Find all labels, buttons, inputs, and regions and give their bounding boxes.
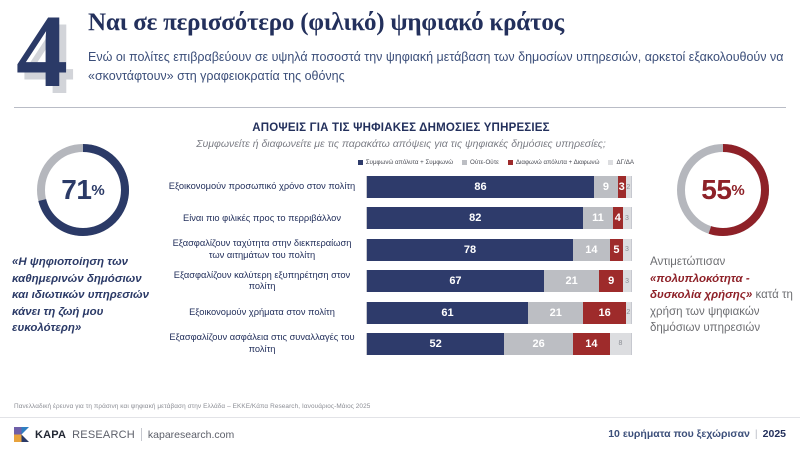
right-donut-chart: 55% (673, 140, 773, 240)
left-donut-chart: 71% (33, 140, 133, 240)
chart-row-label: Εξοικονομούν χρήματα στον πολίτη (166, 307, 366, 319)
section-number-value: 4 (16, 2, 66, 102)
right-donut-label: 55% (673, 140, 773, 240)
header-divider (14, 107, 786, 108)
chart-segment: 82 (367, 207, 583, 229)
chart-segment: 78 (367, 239, 573, 261)
legend-item: ΔΓ/ΔΑ (608, 159, 634, 166)
legend-swatch-icon (608, 160, 613, 165)
brand-website[interactable]: kaparesearch.com (148, 429, 234, 441)
chart-segment: 26 (504, 333, 573, 355)
chart-row: Εξασφαλίζουν ταχύτητα στην διεκπεραίωση … (166, 236, 636, 264)
chart-segment: 11 (583, 207, 612, 229)
right-caption-highlight: «πολυπλοκότητα - δυσκολία χρήσης» (650, 273, 752, 302)
right-caption-before: Αντιμετώπισαν (650, 256, 725, 268)
brand-research: RESEARCH (72, 429, 135, 441)
chart-title: ΑΠΟΨΕΙΣ ΓΙΑ ΤΙΣ ΨΗΦΙΑΚΕΣ ΔΗΜΟΣΙΕΣ ΥΠΗΡΕΣ… (166, 122, 636, 134)
footer-year: 2025 (763, 428, 786, 440)
chart-segment: 4 (613, 207, 624, 229)
chart-segment: 3 (623, 207, 631, 229)
left-donut-label: 71% (33, 140, 133, 240)
page-subtitle: Ενώ οι πολίτες επιβραβεύουν σε υψηλά ποσ… (88, 48, 788, 86)
header: 4 4 Ναι σε περισσότερο (φιλικό) ψηφιακό … (0, 0, 800, 108)
legend-item: Συμφωνώ απόλυτα + Συμφωνώ (358, 159, 453, 166)
chart-row-label: Εξασφαλίζουν καλύτερη εξυπηρέτηση στον π… (166, 270, 366, 293)
right-donut-percent: % (731, 182, 744, 199)
brand-block: KAPA RESEARCH kaparesearch.com (14, 427, 234, 442)
kapa-logo-icon (14, 427, 29, 442)
chart-row-label: Είναι πιο φιλικές προς το περριβάλλον (166, 213, 366, 225)
legend-item: Διαφωνώ απόλυτα + Διαφωνώ (508, 159, 600, 166)
chart-row: Εξοικονομούν προσωπικό χρόνο στον πολίτη… (166, 173, 636, 201)
chart-row: Είναι πιο φιλικές προς το περριβάλλον821… (166, 204, 636, 232)
right-donut-value: 55 (701, 174, 731, 206)
chart-segment: 67 (367, 270, 544, 292)
legend-swatch-icon (358, 160, 363, 165)
chart-bar: 821143 (366, 207, 632, 229)
footer-divider (0, 417, 800, 418)
chart-segment: 61 (367, 302, 528, 324)
legend-label: Ούτε-Ούτε (470, 159, 499, 166)
chart-rows: Εξοικονομούν προσωπικό χρόνο στον πολίτη… (166, 173, 636, 358)
chart-row-label: Εξασφαλίζουν ταχύτητα στην διεκπεραίωση … (166, 238, 366, 261)
footer-tagline-block: 10 ευρήματα που ξεχώρισαν | 2025 (608, 428, 786, 440)
chart-legend: Συμφωνώ απόλυτα + ΣυμφωνώΟύτε-ΟύτεΔιαφων… (166, 159, 636, 166)
chart-subtitle: Συμφωνείτε ή διαφωνείτε με τις παρακάτω … (166, 138, 636, 150)
legend-swatch-icon (508, 160, 513, 165)
infographic-slide: 4 4 Ναι σε περισσότερο (φιλικό) ψηφιακό … (0, 0, 800, 450)
chart-segment: 3 (618, 176, 626, 198)
left-donut-value: 71 (61, 174, 91, 206)
chart-segment: 21 (544, 270, 599, 292)
legend-label: ΔΓ/ΔΑ (616, 159, 634, 166)
page-title: Ναι σε περισσότερο (φιλικό) ψηφιακό κράτ… (88, 8, 788, 38)
chart-segment: 8 (610, 333, 631, 355)
footer-tagline: 10 ευρήματα που ξεχώρισαν (608, 428, 750, 440)
right-stat-block: 55% Αντιμετώπισαν «πολυπλοκότητα - δυσκο… (648, 140, 798, 337)
chart-segment: 5 (610, 239, 623, 261)
legend-label: Συμφωνώ απόλυτα + Συμφωνώ (366, 159, 453, 166)
chart-bar: 6121162 (366, 302, 632, 324)
chart-segment: 14 (573, 239, 610, 261)
chart-row-label: Εξασφαλίζουν ασφάλεια στις συναλλαγές το… (166, 332, 366, 355)
chart-bar: 781453 (366, 239, 632, 261)
chart-bar: 5226148 (366, 333, 632, 355)
brand-divider (141, 428, 142, 441)
left-stat-caption: «Η ψηφιοποίηση των καθημερινών δημόσιων … (8, 254, 158, 337)
chart-segment: 9 (599, 270, 623, 292)
legend-swatch-icon (462, 160, 467, 165)
left-stat-block: 71% «Η ψηφιοποίηση των καθημερινών δημόσ… (8, 140, 158, 337)
chart-row: Εξασφαλίζουν ασφάλεια στις συναλλαγές το… (166, 330, 636, 358)
chart-bar: 86932 (366, 176, 632, 198)
chart-bar: 672193 (366, 270, 632, 292)
chart-segment: 86 (367, 176, 594, 198)
left-donut-percent: % (91, 182, 104, 199)
chart-segment: 3 (623, 239, 631, 261)
chart-segment: 2 (626, 176, 631, 198)
source-note: Πανελλαδική έρευνα για τη πράσινη και ψη… (14, 403, 370, 410)
chart-segment: 3 (623, 270, 631, 292)
legend-item: Ούτε-Ούτε (462, 159, 499, 166)
chart-row: Εξασφαλίζουν καλύτερη εξυπηρέτηση στον π… (166, 267, 636, 295)
chart-row: Εξοικονομούν χρήματα στον πολίτη6121162 (166, 299, 636, 327)
chart-row-label: Εξοικονομούν προσωπικό χρόνο στον πολίτη (166, 181, 366, 193)
footer-separator: | (755, 428, 758, 440)
chart-segment: 2 (626, 302, 631, 324)
brand-kapa: KAPA (35, 429, 66, 441)
chart-segment: 21 (528, 302, 583, 324)
chart-segment: 9 (594, 176, 618, 198)
right-stat-caption: Αντιμετώπισαν «πολυπλοκότητα - δυσκολία … (648, 254, 798, 337)
chart-segment: 16 (583, 302, 625, 324)
chart-panel: ΑΠΟΨΕΙΣ ΓΙΑ ΤΙΣ ΨΗΦΙΑΚΕΣ ΔΗΜΟΣΙΕΣ ΥΠΗΡΕΣ… (166, 122, 636, 387)
legend-label: Διαφωνώ απόλυτα + Διαφωνώ (516, 159, 600, 166)
chart-segment: 14 (573, 333, 610, 355)
chart-segment: 52 (367, 333, 504, 355)
